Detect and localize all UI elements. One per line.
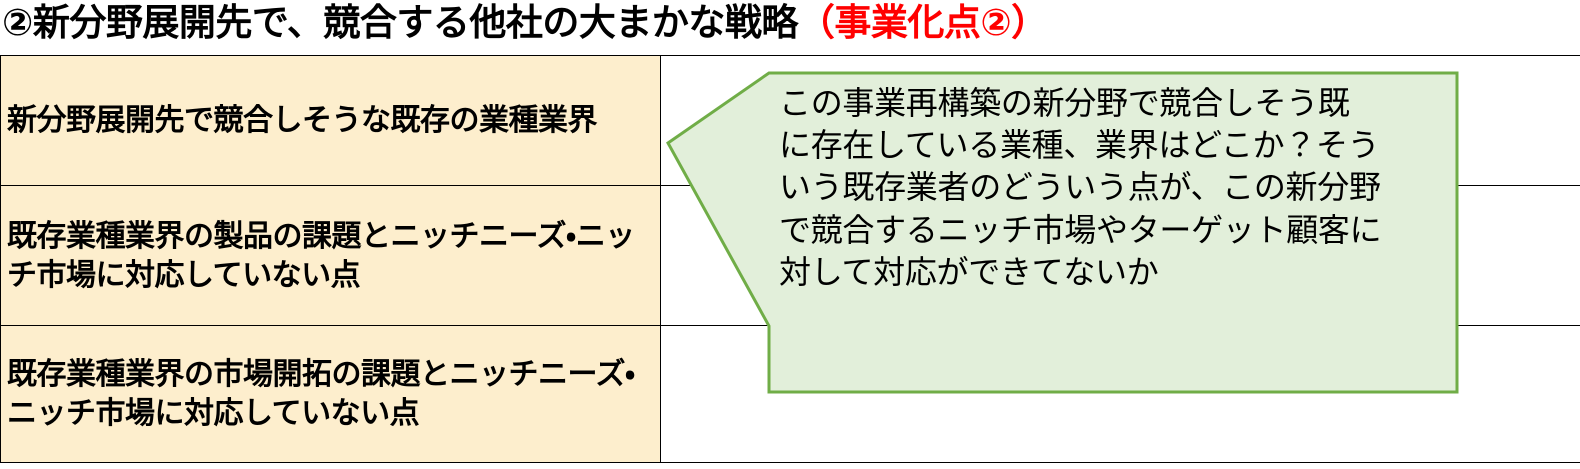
table-cell-label-3: 既存業種業界の市場開拓の課題とニッチニーズ・ニッチ市場に対応していない点 — [1, 326, 661, 463]
callout-line-4: で競合するニッチ市場やターゲット顧客に — [779, 209, 1441, 251]
table-cell-label-1: 新分野展開先で競合しそうな既存の業種業界 — [1, 56, 661, 186]
row-label-3: 既存業種業界の市場開拓の課題とニッチニーズ・ニッチ市場に対応していない点 — [1, 355, 660, 433]
callout-line-1: この事業再構築の新分野で競合しそう既 — [779, 82, 1441, 124]
page-title-main: ②新分野展開先で、競合する他社の大まかな戦略 — [2, 2, 798, 43]
table-cell-label-2: 既存業種業界の製品の課題とニッチニーズ・ニッチ市場に対応していない点 — [1, 186, 661, 326]
callout-text: この事業再構築の新分野で競合しそう既 に存在している業種、業界はどこか？そう い… — [769, 76, 1449, 388]
callout-line-2: に存在している業種、業界はどこか？そう — [779, 124, 1441, 166]
row-label-1: 新分野展開先で競合しそうな既存の業種業界 — [1, 101, 660, 140]
page-title-accent: （事業化点②） — [798, 2, 1048, 43]
callout-line-3: いう既存業者のどういう点が、この新分野 — [779, 166, 1441, 208]
page-title: ②新分野展開先で、競合する他社の大まかな戦略（事業化点②） — [2, 0, 1578, 50]
row-label-2: 既存業種業界の製品の課題とニッチニーズ・ニッチ市場に対応していない点 — [1, 217, 660, 295]
callout-line-5: 対して対応ができてないか — [779, 251, 1441, 293]
